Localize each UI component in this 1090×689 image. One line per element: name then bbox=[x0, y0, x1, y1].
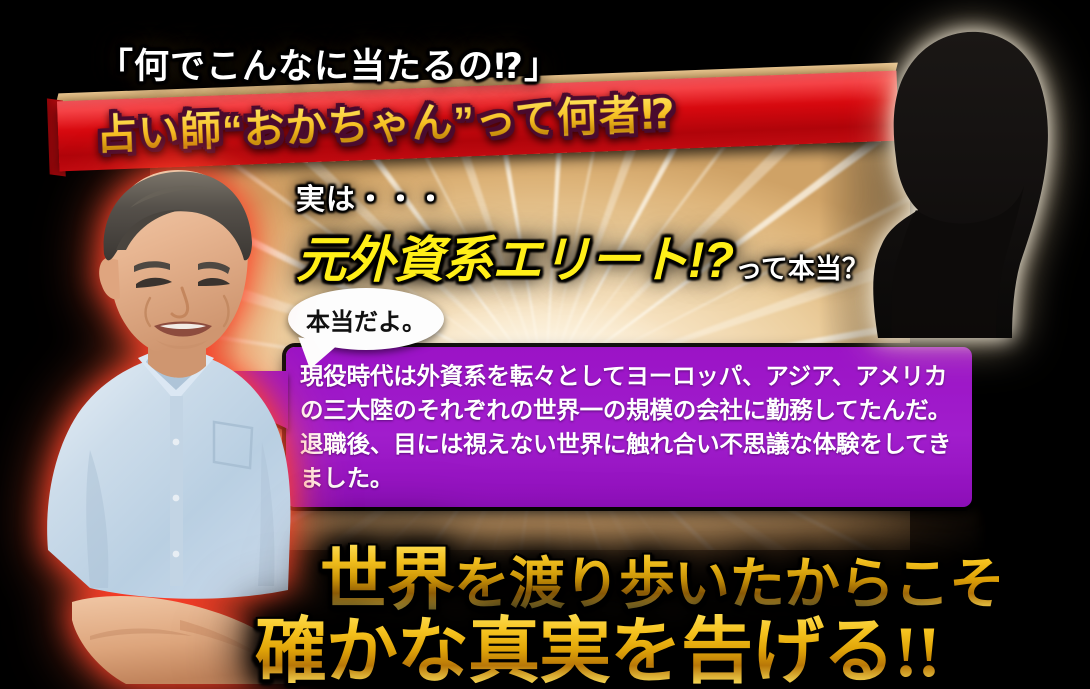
speech-bubble-text: 本当だよ。 bbox=[306, 302, 426, 337]
testimony-purple-box: 現役時代は外資系を転々としてヨーロッパ、アジア、アメリカの三大陸のそれぞれの世界… bbox=[286, 347, 972, 507]
promo-banner: 「何でこんなに当たるの⁉」 占い師“おかちゃん”って何者⁉ 実は・・・ 元外資系… bbox=[0, 0, 1090, 689]
page-title: 「何でこんなに当たるの⁉」 bbox=[98, 38, 560, 89]
mystery-woman-silhouette bbox=[766, 0, 1086, 340]
closing-line-2: 確かな真実を告げる!! bbox=[255, 592, 940, 689]
testimony-body-text: 現役時代は外資系を転々としてヨーロッパ、アジア、アメリカの三大陸のそれぞれの世界… bbox=[286, 347, 972, 495]
emphasis-text: 元外資系エリート!? bbox=[296, 220, 733, 292]
